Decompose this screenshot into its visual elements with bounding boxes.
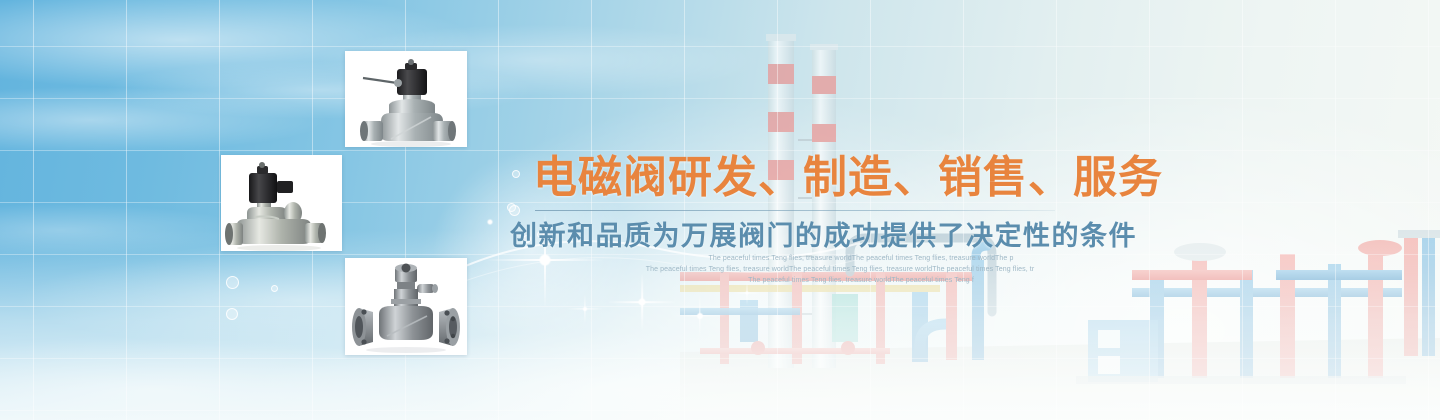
product-thumbnail-3[interactable] (345, 258, 467, 355)
hero-banner: 电磁阀研发、制造、销售、服务 创新和品质为万展阀门的成功提供了决定性的条件 Th… (0, 0, 1440, 420)
grid-overlay (0, 0, 1440, 420)
product-thumbnail-2[interactable] (221, 155, 342, 251)
product-thumbnail-1[interactable] (345, 51, 467, 147)
